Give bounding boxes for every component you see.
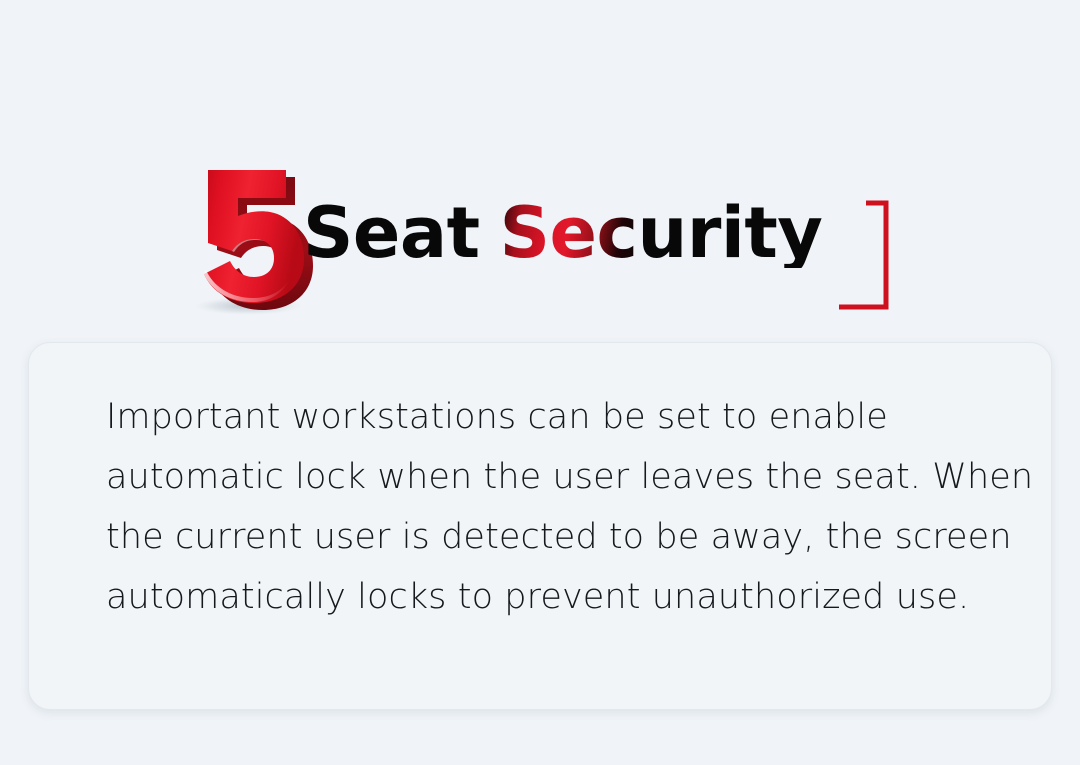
title-word-seat: Seat (303, 198, 480, 268)
numeral-3d-icon (186, 158, 316, 318)
right-bracket-icon (836, 200, 890, 310)
heading-block: Seat Security (0, 150, 1080, 330)
section-title: Seat Security (303, 168, 822, 298)
description-card: Important workstations can be set to ena… (28, 342, 1052, 710)
section-number-5 (186, 158, 316, 318)
description-paragraph: Important workstations can be set to ena… (106, 387, 1036, 627)
slide-root: Seat Security Important workstations can… (0, 0, 1080, 765)
right-bracket-shape (836, 200, 890, 310)
title-word-security: Security (500, 198, 823, 268)
